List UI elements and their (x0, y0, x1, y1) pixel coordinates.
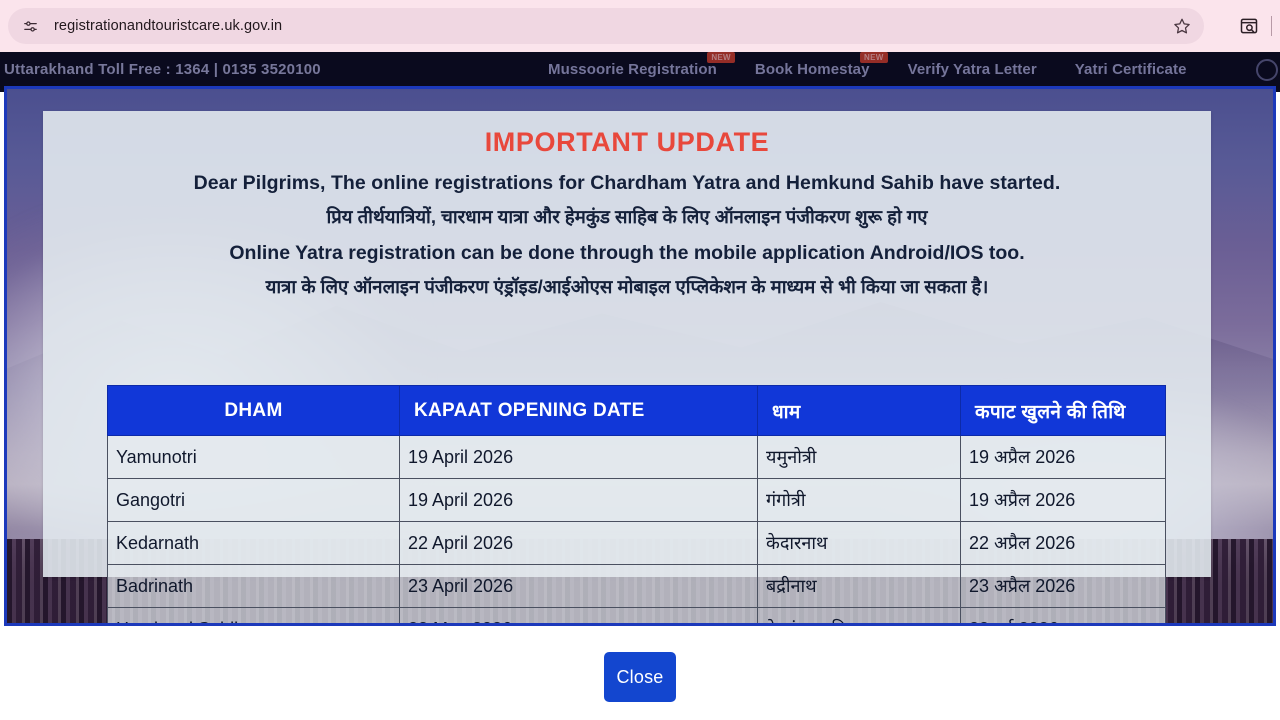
table-row: Hemkund Sahib 23 May 2026 हेमकुंड साहिब … (108, 608, 1166, 627)
notice-line-hindi-1: प्रिय तीर्थयात्रियों, चारधाम यात्रा और ह… (43, 204, 1211, 229)
cell-date-hi: 19 अप्रैल 2026 (961, 436, 1166, 479)
column-header-dham-en: DHAM (108, 386, 400, 436)
helpline-text: Uttarakhand Toll Free : 1364 | 0135 3520… (4, 61, 321, 78)
notice-line-english-2: Online Yatra registration can be done th… (43, 242, 1211, 265)
column-header-dham-hi: धाम (758, 386, 961, 436)
notice-title: IMPORTANT UPDATE (43, 127, 1211, 158)
browser-action-icons (1202, 8, 1272, 44)
globe-icon[interactable] (1256, 59, 1278, 81)
notice-card: IMPORTANT UPDATE Dear Pilgrims, The onli… (43, 111, 1211, 577)
nav-link-label: Verify Yatra Letter (908, 61, 1037, 78)
page-settings-icon[interactable] (16, 12, 44, 40)
cell-dham-hi: गंगोत्री (758, 479, 961, 522)
table-row: Kedarnath 22 April 2026 केदारनाथ 22 अप्र… (108, 522, 1166, 565)
cell-dham-hi: हेमकुंड साहिब (758, 608, 961, 627)
browser-toolbar: registrationandtouristcare.uk.gov.in (0, 0, 1280, 52)
address-bar[interactable]: registrationandtouristcare.uk.gov.in (8, 8, 1204, 44)
nav-link-verify-yatra-letter[interactable]: Verify Yatra Letter (908, 61, 1037, 78)
cell-date-hi: 23 मई 2026 (961, 608, 1166, 627)
cell-date-en: 19 April 2026 (400, 436, 758, 479)
toolbar-divider (1271, 16, 1272, 36)
close-button[interactable]: Close (604, 652, 676, 702)
cell-dham-hi: बद्रीनाथ (758, 565, 961, 608)
cell-dham-hi: केदारनाथ (758, 522, 961, 565)
popup-footer: Close (0, 652, 1280, 702)
cell-date-hi: 23 अप्रैल 2026 (961, 565, 1166, 608)
column-header-date-en: KAPAAT OPENING DATE (400, 386, 758, 436)
nav-link-mussoorie-registration[interactable]: Mussoorie Registration NEW (548, 61, 717, 78)
cell-dham-en: Gangotri (108, 479, 400, 522)
cell-date-en: 23 May 2026 (400, 608, 758, 627)
new-badge: NEW (707, 52, 735, 63)
update-popup-image: IMPORTANT UPDATE Dear Pilgrims, The onli… (4, 86, 1276, 626)
nav-link-yatri-certificate[interactable]: Yatri Certificate (1075, 61, 1187, 78)
cell-dham-en: Kedarnath (108, 522, 400, 565)
nav-link-label: Yatri Certificate (1075, 61, 1187, 78)
cell-date-en: 23 April 2026 (400, 565, 758, 608)
cell-dham-en: Hemkund Sahib (108, 608, 400, 627)
cell-date-hi: 19 अप्रैल 2026 (961, 479, 1166, 522)
nav-link-book-homestay[interactable]: Book Homestay NEW (755, 61, 870, 78)
star-icon[interactable] (1170, 14, 1194, 38)
new-badge: NEW (860, 52, 888, 63)
table-header-row: DHAM KAPAAT OPENING DATE धाम कपाट खुलने … (108, 386, 1166, 436)
cell-date-en: 19 April 2026 (400, 479, 758, 522)
nav-link-label: Mussoorie Registration (548, 61, 717, 78)
cell-date-hi: 22 अप्रैल 2026 (961, 522, 1166, 565)
table-row: Yamunotri 19 April 2026 यमुनोत्री 19 अप्… (108, 436, 1166, 479)
cell-dham-en: Badrinath (108, 565, 400, 608)
search-in-page-icon[interactable] (1237, 14, 1261, 38)
cell-dham-en: Yamunotri (108, 436, 400, 479)
table-row: Badrinath 23 April 2026 बद्रीनाथ 23 अप्र… (108, 565, 1166, 608)
url-text: registrationandtouristcare.uk.gov.in (54, 18, 282, 34)
top-nav-links: Mussoorie Registration NEW Book Homestay… (548, 61, 1187, 78)
cell-dham-hi: यमुनोत्री (758, 436, 961, 479)
cell-date-en: 22 April 2026 (400, 522, 758, 565)
table-row: Gangotri 19 April 2026 गंगोत्री 19 अप्रै… (108, 479, 1166, 522)
nav-link-label: Book Homestay (755, 61, 870, 78)
notice-line-english-1: Dear Pilgrims, The online registrations … (43, 172, 1211, 195)
kapaat-opening-dates-table: DHAM KAPAAT OPENING DATE धाम कपाट खुलने … (107, 385, 1166, 626)
column-header-date-hi: कपाट खुलने की तिथि (961, 386, 1166, 436)
notice-line-hindi-2: यात्रा के लिए ऑनलाइन पंजीकरण एंड्रॉइड/आई… (43, 274, 1211, 299)
